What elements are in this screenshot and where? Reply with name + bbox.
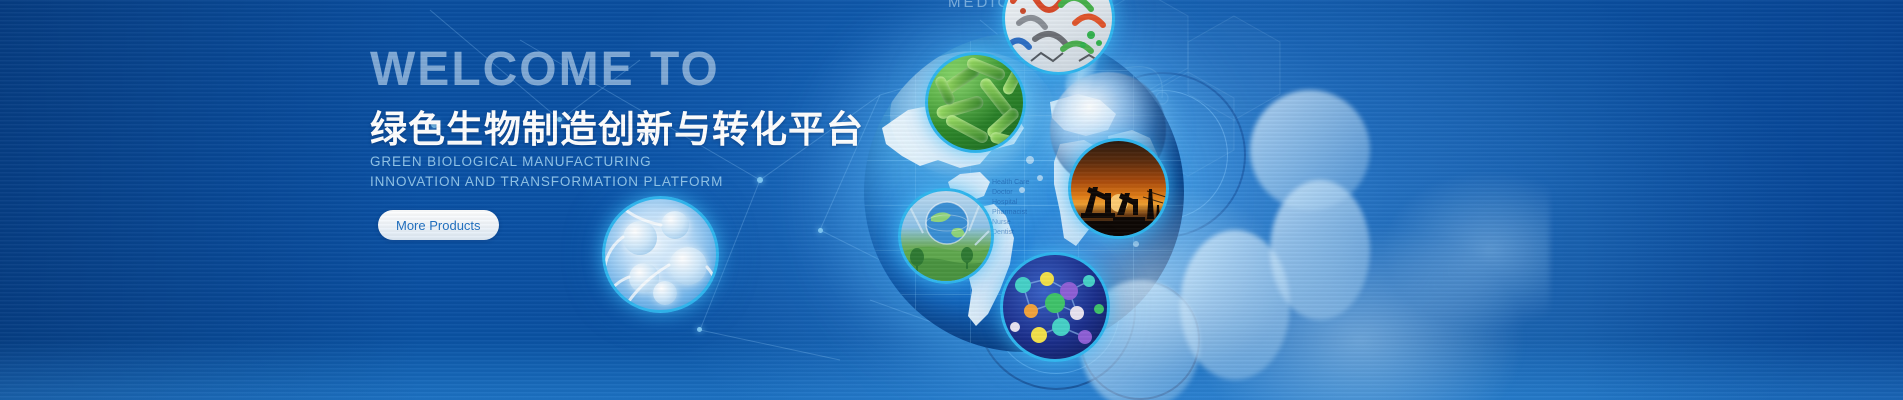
svg-text:Hospital: Hospital: [992, 199, 1018, 206]
hero-banner: MEDICAL: [0, 0, 1903, 400]
finger: [1250, 90, 1370, 210]
svg-text:Pharmacist: Pharmacist: [992, 209, 1027, 216]
bubble-molecules[interactable]: [1000, 252, 1110, 362]
page-title: 绿色生物制造创新与转化平台: [370, 110, 864, 151]
welcome-text: WELCOME TO: [370, 46, 720, 94]
hero-copy: WELCOME TO 绿色生物制造创新与转化平台 GREEN BIOLOGICA…: [370, 0, 890, 400]
subtitle-line-2: INNOVATION AND TRANSFORMATION PLATFORM: [370, 172, 723, 192]
bubble-bacteria[interactable]: [925, 52, 1026, 153]
subtitle: GREEN BIOLOGICAL MANUFACTURING INNOVATIO…: [370, 152, 723, 191]
svg-text:Doctor: Doctor: [992, 189, 1013, 196]
bubble-eco-globe[interactable]: [898, 188, 994, 284]
bubble-oil-pumpjack[interactable]: [1068, 138, 1169, 239]
subtitle-line-1: GREEN BIOLOGICAL MANUFACTURING: [370, 152, 723, 172]
more-products-button[interactable]: More Products: [378, 210, 499, 240]
svg-text:Nurse: Nurse: [992, 219, 1011, 226]
svg-text:Dentist: Dentist: [992, 229, 1014, 236]
svg-text:Health Care: Health Care: [992, 179, 1029, 186]
